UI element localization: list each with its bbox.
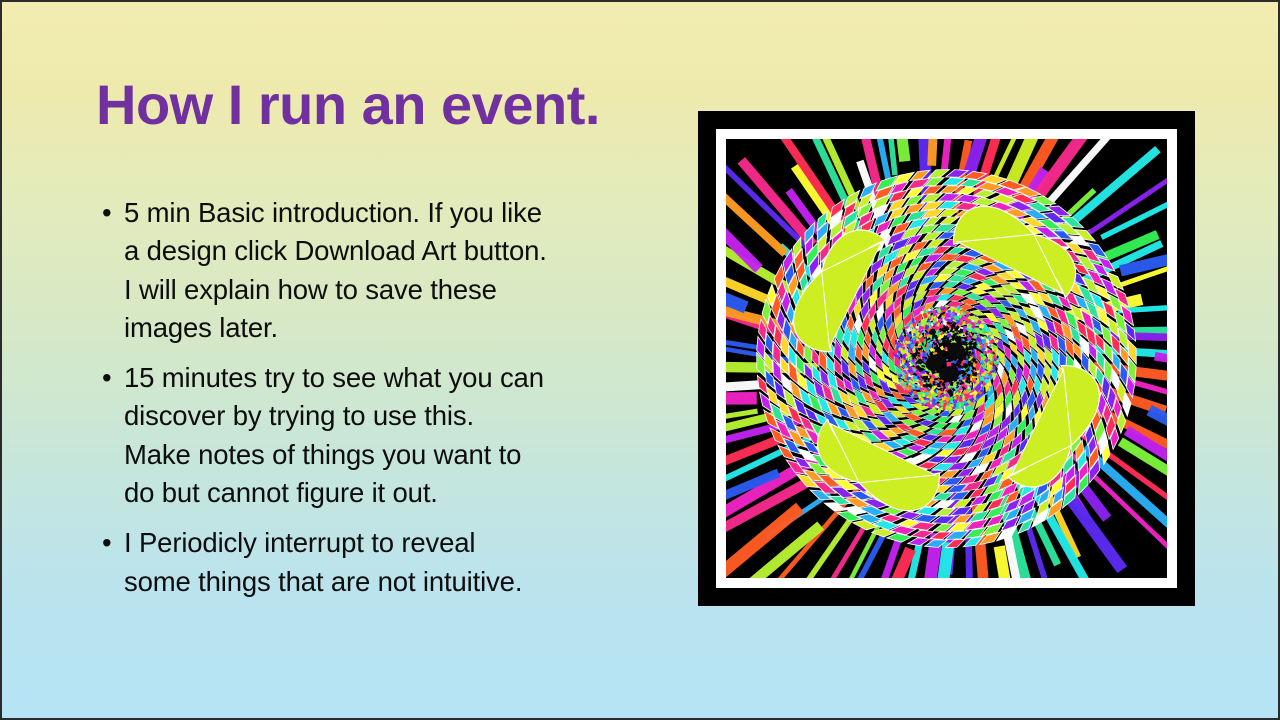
bullet-text: 15 minutes try to see what you can disco… xyxy=(124,359,672,512)
bullet-text: I Periodicly interrupt to reveal some th… xyxy=(124,524,672,601)
artwork-mat xyxy=(716,129,1177,588)
bullet-marker-icon: • xyxy=(102,194,111,232)
bullet-list: • 5 min Basic introduction. If you like … xyxy=(92,194,672,613)
page-title: How I run an event. xyxy=(96,76,696,135)
bullet-text: 5 min Basic introduction. If you like a … xyxy=(124,194,672,347)
bullet-marker-icon: • xyxy=(102,359,111,397)
bullet-marker-icon: • xyxy=(102,524,111,562)
list-item: • I Periodicly interrupt to reveal some … xyxy=(92,524,672,601)
list-item: • 15 minutes try to see what you can dis… xyxy=(92,359,672,512)
spiral-fractal-svg xyxy=(726,139,1167,578)
artwork-frame xyxy=(698,111,1195,606)
list-item: • 5 min Basic introduction. If you like … xyxy=(92,194,672,347)
slide: How I run an event. • 5 min Basic introd… xyxy=(0,0,1280,720)
spiral-fractal-art-image xyxy=(726,139,1167,578)
